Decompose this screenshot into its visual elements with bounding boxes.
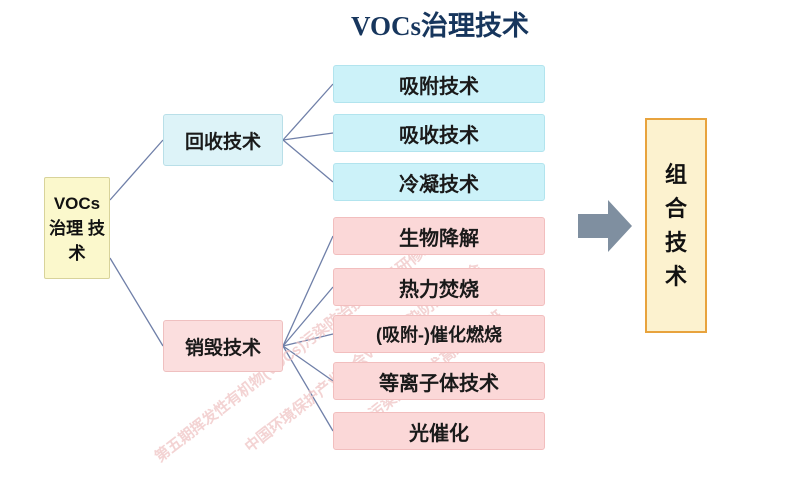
page-title: VOCs治理技术 [240,4,640,43]
leaf-plasma: 等离子体技术 [333,362,545,400]
leaf-catalytic-combustion: (吸附-)催化燃烧 [333,315,545,353]
result-line-3: 技 [665,226,687,260]
right-arrow-icon [578,200,632,252]
root-line-1: VOCs [54,194,100,213]
leaf-adsorption: 吸附技术 [333,65,545,103]
leaf-absorption: 吸收技术 [333,114,545,152]
root-line-2: 治理 [49,219,83,238]
leaf-thermal-incineration: 热力焚烧 [333,268,545,306]
leaf-photocatalysis: 光催化 [333,412,545,450]
result-line-4: 术 [665,260,687,294]
result-line-1: 组 [665,158,687,192]
result-node: 组 合 技 术 [645,118,707,333]
result-line-2: 合 [665,192,687,226]
leaf-biodegradation: 生物降解 [333,217,545,255]
root-node: VOCs 治理 技术 [44,177,110,279]
leaf-condensation: 冷凝技术 [333,163,545,201]
category-destroy: 销毁技术 [163,320,283,372]
diagram-canvas: VOCs治理技术 第五期挥发性有机物(VOCs)污染防治技术高级研修班 中国环境… [0,0,800,492]
category-recovery: 回收技术 [163,114,283,166]
